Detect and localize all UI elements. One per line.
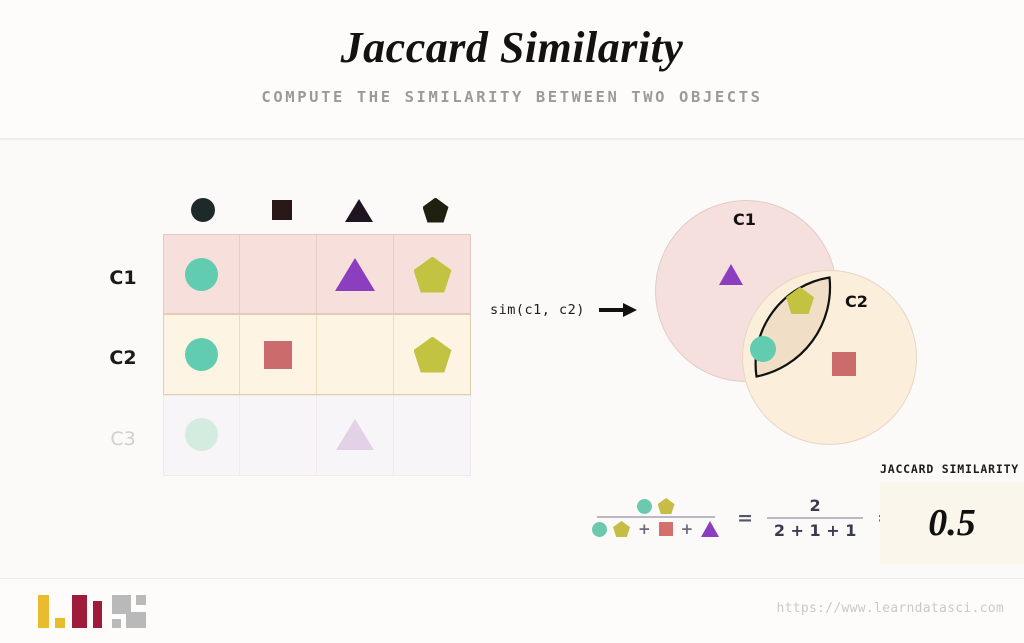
cell-c1-square (240, 234, 317, 315)
matrix-grid (163, 234, 471, 476)
circle-icon (191, 198, 215, 222)
triangle-icon (345, 199, 373, 222)
square-icon (272, 200, 292, 220)
column-header-pentagon (396, 190, 475, 230)
jaccard-formula: + + = 2 2 + 1 + 1 = (588, 494, 893, 542)
fraction-numerator-shapes (633, 496, 679, 516)
equals-sign-1: = (737, 507, 753, 529)
square-shape (659, 522, 673, 536)
page-subtitle: COMPUTE THE SIMILARITY BETWEEN TWO OBJEC… (0, 88, 1024, 106)
pentagon-shape (658, 498, 675, 514)
venn-triangle-shape (719, 264, 743, 285)
result-value: 0.5 (928, 501, 976, 545)
body-area: C1 C2 C3 (0, 142, 1024, 572)
table-row (163, 234, 471, 315)
page-title: Jaccard Similarity (0, 22, 1024, 73)
column-header-triangle (319, 190, 398, 230)
cell-c2-square (240, 314, 317, 395)
sim-label: sim(c1, c2) (490, 302, 585, 318)
table-row (163, 394, 471, 475)
triangle-shape (701, 521, 719, 537)
footer-band: https://www.learndatasci.com (0, 578, 1024, 643)
cell-c1-pentagon (394, 234, 471, 315)
infographic-poster: Jaccard Similarity COMPUTE THE SIMILARIT… (0, 0, 1024, 643)
pentagon-shape (613, 521, 630, 537)
cell-c3-pentagon (394, 394, 471, 475)
fraction-numerator-value: 2 (806, 494, 825, 517)
cell-c3-circle (163, 394, 240, 475)
venn-intersection-outline (645, 192, 925, 452)
fraction-denominator-shapes: + + (588, 518, 723, 540)
header-band: Jaccard Similarity COMPUTE THE SIMILARIT… (0, 0, 1024, 140)
triangle-shape (335, 258, 375, 291)
numeric-fraction: 2 2 + 1 + 1 (767, 494, 863, 542)
venn-diagram: C1 C2 (645, 192, 925, 452)
cell-c3-square (240, 394, 317, 475)
result-box: 0.5 (880, 482, 1024, 564)
fraction-denominator-value: 2 + 1 + 1 (770, 519, 861, 542)
row-label-c3: C3 (95, 428, 151, 450)
circle-shape (592, 522, 607, 537)
plus-sign: + (679, 520, 696, 538)
sim-annotation: sim(c1, c2) (490, 302, 639, 318)
plus-sign: + (636, 520, 653, 538)
pentagon-shape (414, 337, 452, 373)
shape-fraction: + + (588, 496, 723, 540)
cell-c3-triangle (317, 394, 394, 475)
cell-c2-pentagon (394, 314, 471, 395)
pentagon-icon (423, 198, 449, 223)
pentagon-shape (414, 257, 452, 293)
column-header-circle (163, 190, 242, 230)
venn-circle-shape (750, 336, 776, 362)
triangle-shape (336, 419, 374, 450)
row-label-c1: C1 (95, 267, 151, 289)
circle-shape (185, 258, 218, 291)
cell-c1-circle (163, 234, 240, 315)
venn-label-c2: C2 (845, 292, 868, 311)
venn-square-shape (832, 352, 856, 376)
site-url: https://www.learndatasci.com (776, 601, 1004, 616)
cell-c2-circle (163, 314, 240, 395)
circle-shape (637, 499, 652, 514)
table-row (163, 314, 471, 395)
cell-c2-triangle (317, 314, 394, 395)
circle-shape (185, 418, 218, 451)
square-shape (264, 341, 292, 369)
column-header-square (242, 190, 321, 230)
row-label-c2: C2 (95, 347, 151, 369)
result-label: JACCARD SIMILARITY (880, 462, 1020, 476)
brand-logo (38, 593, 158, 631)
cell-c1-triangle (317, 234, 394, 315)
venn-label-c1: C1 (733, 210, 756, 229)
circle-shape (185, 338, 218, 371)
arrow-right-icon (599, 303, 639, 317)
